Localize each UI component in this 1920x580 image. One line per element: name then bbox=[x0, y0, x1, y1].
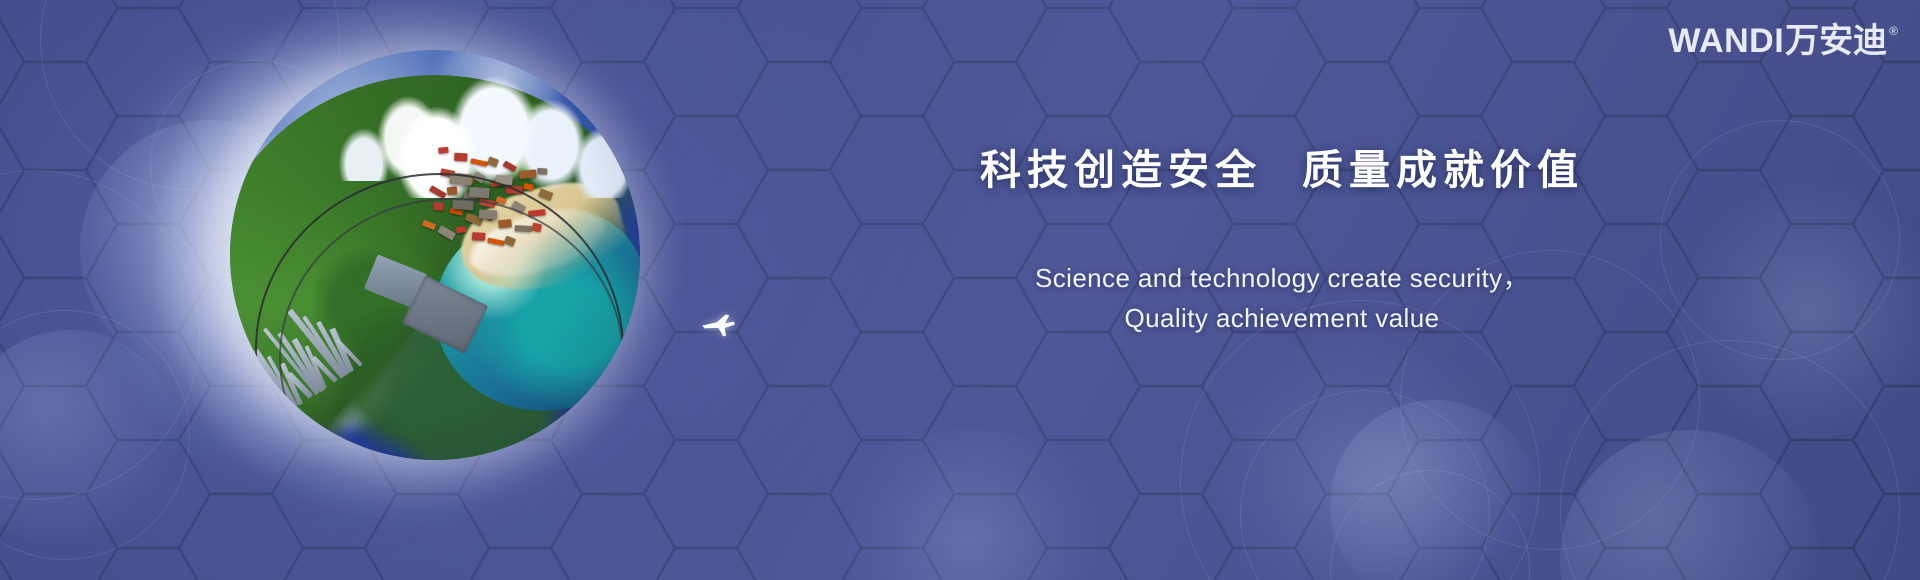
hexagon-cell bbox=[86, 440, 210, 548]
hexagon-cell-inner bbox=[1575, 549, 1696, 580]
hexagon-cell-inner bbox=[459, 549, 580, 580]
hexagon-cell-inner bbox=[0, 225, 23, 330]
hexagon-cell bbox=[1481, 386, 1605, 494]
hexagon-cell-inner bbox=[1110, 387, 1231, 492]
hexagon-cell-inner bbox=[738, 171, 859, 276]
hexagon-cell-inner bbox=[0, 0, 23, 7]
hexagon-cell bbox=[1574, 332, 1698, 440]
hexagon-cell bbox=[830, 8, 954, 116]
hexagon-cell-inner bbox=[1017, 441, 1138, 546]
hexagon-cell-inner bbox=[0, 117, 23, 222]
hexagon-cell bbox=[1388, 332, 1512, 440]
hexagon-cell-inner bbox=[738, 0, 859, 61]
hexagon-cell bbox=[644, 0, 768, 8]
hexagon-cell-inner bbox=[1017, 333, 1138, 438]
hexagon-cell bbox=[737, 170, 861, 278]
decor-glow bbox=[1210, 330, 1510, 580]
decor-circle bbox=[1560, 340, 1900, 580]
hexagon-cell-inner bbox=[645, 441, 766, 546]
hexagon-cell bbox=[1109, 494, 1233, 580]
hexagon-cell-inner bbox=[1110, 495, 1231, 580]
hexagon-cell-inner bbox=[1203, 9, 1324, 114]
hexagon-cell-inner bbox=[1017, 0, 1138, 7]
hexagon-cell bbox=[1853, 386, 1920, 494]
hexagon-cell bbox=[1016, 8, 1140, 116]
hexagon-cell-inner bbox=[831, 117, 952, 222]
hexagon-cell-inner bbox=[87, 441, 208, 546]
hexagon-cell-inner bbox=[1668, 495, 1789, 580]
hexagon-cell-inner bbox=[645, 9, 766, 114]
hexagon-cell bbox=[923, 0, 1047, 62]
hexagon-cell bbox=[1388, 440, 1512, 548]
hexagon-cell bbox=[1574, 0, 1698, 8]
hexagon-cell bbox=[1481, 494, 1605, 580]
hexagon-cell bbox=[1109, 386, 1233, 494]
hexagon-cell-inner bbox=[1203, 0, 1324, 7]
logo-latin-text: WANDI bbox=[1668, 24, 1784, 58]
hexagon-cell bbox=[0, 8, 24, 116]
hexagon-cell-inner bbox=[1761, 441, 1882, 546]
hexagon-cell bbox=[0, 62, 117, 170]
globe-edge-shadow bbox=[230, 50, 640, 460]
hexagon-cell-inner bbox=[1296, 495, 1417, 580]
hexagon-cell bbox=[1853, 170, 1920, 278]
subtitle-line-2: Quality achievement value bbox=[912, 298, 1652, 338]
hexagon-cell bbox=[1853, 62, 1920, 170]
hexagon-cell-inner bbox=[1761, 333, 1882, 438]
hexagon-cell-inner bbox=[831, 333, 952, 438]
hexagon-cell-inner bbox=[0, 9, 23, 114]
hexagon-cell-inner bbox=[0, 495, 116, 580]
hexagon-cell-inner bbox=[1389, 9, 1510, 114]
hexagon-cell bbox=[1388, 8, 1512, 116]
hexagon-cell-inner bbox=[1017, 9, 1138, 114]
hexagon-cell-inner bbox=[831, 549, 952, 580]
hexagon-cell bbox=[0, 116, 24, 224]
hexagon-cell bbox=[1016, 0, 1140, 8]
decor-glow bbox=[820, 430, 1120, 580]
hexagon-cell-inner bbox=[831, 9, 952, 114]
decor-bokeh bbox=[1330, 400, 1540, 580]
hexagon-cell bbox=[1202, 8, 1326, 116]
hexagon-cell bbox=[923, 494, 1047, 580]
hexagon-cell bbox=[644, 8, 768, 116]
hexagon-cell bbox=[923, 386, 1047, 494]
hexagon-cell-inner bbox=[0, 549, 23, 580]
hexagon-cell bbox=[1481, 0, 1605, 62]
hexagon-cell bbox=[1667, 494, 1791, 580]
hexagon-cell-inner bbox=[1296, 387, 1417, 492]
registered-trademark-icon: ® bbox=[1889, 25, 1898, 37]
hexagon-cell-inner bbox=[1668, 171, 1789, 276]
page-subtitle: Science and technology create security， … bbox=[912, 258, 1652, 338]
hexagon-cell-inner bbox=[1482, 0, 1603, 61]
hexagon-cell-inner bbox=[831, 0, 952, 7]
hexagon-cell-inner bbox=[180, 495, 301, 580]
hexagon-cell-inner bbox=[1017, 549, 1138, 580]
hexagon-cell-inner bbox=[1575, 0, 1696, 7]
hexagon-cell-inner bbox=[1668, 63, 1789, 168]
hexagon-cell bbox=[1016, 332, 1140, 440]
hexagon-cell bbox=[1016, 548, 1140, 580]
hexagon-cell bbox=[737, 62, 861, 170]
globe-illustration bbox=[200, 25, 660, 485]
hexagon-cell bbox=[0, 332, 24, 440]
hexagon-cell-inner bbox=[87, 0, 208, 7]
hexagon-cell bbox=[1760, 0, 1884, 8]
hexagon-cell-inner bbox=[0, 0, 116, 61]
hexagon-cell-inner bbox=[738, 495, 859, 580]
hexagon-cell-inner bbox=[1389, 0, 1510, 7]
hexagon-cell bbox=[0, 0, 24, 8]
hexagon-cell-inner bbox=[645, 549, 766, 580]
hexagon-cell-inner bbox=[924, 387, 1045, 492]
hexagon-cell bbox=[737, 494, 861, 580]
tiny-planet bbox=[230, 50, 640, 460]
hexagon-cell bbox=[737, 278, 861, 386]
hexagon-cell bbox=[551, 494, 675, 580]
hexagon-cell bbox=[272, 548, 396, 580]
hexagon-cell-inner bbox=[924, 495, 1045, 580]
hexagon-cell-inner bbox=[552, 495, 673, 580]
hexagon-cell bbox=[1202, 0, 1326, 8]
hero-banner: 科技创造安全质量成就价值 Science and technology crea… bbox=[0, 0, 1920, 580]
hexagon-cell-inner bbox=[1575, 441, 1696, 546]
hexagon-cell bbox=[1760, 548, 1884, 580]
hexagon-cell bbox=[0, 278, 117, 386]
hexagon-cell-inner bbox=[1854, 387, 1920, 492]
hexagon-cell bbox=[458, 548, 582, 580]
hexagon-cell bbox=[1202, 332, 1326, 440]
hexagon-cell-inner bbox=[1482, 495, 1603, 580]
hexagon-cell bbox=[0, 386, 117, 494]
hexagon-cell-inner bbox=[1203, 549, 1324, 580]
page-title: 科技创造安全质量成就价值 bbox=[962, 136, 1602, 196]
hexagon-cell bbox=[830, 0, 954, 8]
hexagon-cell bbox=[1760, 440, 1884, 548]
hexagon-cell bbox=[830, 332, 954, 440]
hexagon-cell-inner bbox=[1389, 333, 1510, 438]
hexagon-cell bbox=[830, 548, 954, 580]
subtitle-line-1: Science and technology create security， bbox=[912, 258, 1652, 298]
hexagon-cell bbox=[1295, 386, 1419, 494]
hexagon-cell bbox=[0, 224, 24, 332]
hexagon-cell-inner bbox=[1761, 225, 1882, 330]
hexagon-cell-inner bbox=[924, 0, 1045, 61]
hexagon-cell bbox=[0, 440, 24, 548]
hexagon-cell bbox=[1574, 440, 1698, 548]
hexagon-cell bbox=[1667, 170, 1791, 278]
hexagon-cell bbox=[1388, 0, 1512, 8]
hexagon-cell-inner bbox=[1854, 63, 1920, 168]
hexagon-cell bbox=[1760, 116, 1884, 224]
hexagon-cell-inner bbox=[738, 387, 859, 492]
hexagon-cell bbox=[0, 0, 117, 62]
hexagon-cell bbox=[179, 494, 303, 580]
hexagon-cell-inner bbox=[1668, 387, 1789, 492]
hexagon-cell bbox=[1202, 440, 1326, 548]
hexagon-cell-inner bbox=[1110, 0, 1231, 61]
hexagon-cell bbox=[1667, 62, 1791, 170]
hexagon-cell-inner bbox=[1854, 279, 1920, 384]
hexagon-cell bbox=[830, 116, 954, 224]
headline-part-1: 科技创造安全 bbox=[980, 147, 1262, 193]
hexagon-cell bbox=[1574, 548, 1698, 580]
decor-circle bbox=[1240, 390, 1490, 580]
hexagon-cell bbox=[1295, 494, 1419, 580]
hexagon-cell-inner bbox=[1389, 441, 1510, 546]
hexagon-cell bbox=[1202, 548, 1326, 580]
airplane-icon bbox=[700, 312, 736, 338]
hexagon-cell bbox=[1853, 494, 1920, 580]
hexagon-cell bbox=[737, 386, 861, 494]
hexagon-cell-inner bbox=[0, 387, 116, 492]
hexagon-cell-inner bbox=[1668, 279, 1789, 384]
hexagon-cell-inner bbox=[0, 171, 116, 276]
hexagon-cell bbox=[830, 440, 954, 548]
hexagon-cell bbox=[737, 0, 861, 62]
hexagon-cell-inner bbox=[645, 0, 766, 7]
hexagon-cell-inner bbox=[1761, 549, 1882, 580]
hexagon-cell-inner bbox=[1761, 117, 1882, 222]
hexagon-cell bbox=[1760, 332, 1884, 440]
hexagon-cell bbox=[1667, 278, 1791, 386]
hexagon-cell bbox=[1109, 0, 1233, 62]
hexagon-cell bbox=[644, 440, 768, 548]
hexagon-cell-inner bbox=[0, 279, 116, 384]
hexagon-cell bbox=[0, 548, 24, 580]
brand-logo[interactable]: WANDI 万安迪 ® bbox=[1668, 24, 1898, 58]
hexagon-cell-inner bbox=[1482, 387, 1603, 492]
logo-chinese-text: 万安迪 bbox=[1785, 24, 1887, 58]
hexagon-cell-inner bbox=[1761, 0, 1882, 7]
hexagon-cell-inner bbox=[273, 549, 394, 580]
hexagon-cell bbox=[1760, 224, 1884, 332]
hexagon-cell bbox=[0, 170, 117, 278]
hexagon-cell bbox=[0, 494, 117, 580]
hexagon-cell-inner bbox=[1854, 171, 1920, 276]
hexagon-cell bbox=[1295, 0, 1419, 62]
hexagon-cell bbox=[1016, 440, 1140, 548]
hexagon-cell-inner bbox=[1854, 495, 1920, 580]
hexagon-cell bbox=[1853, 278, 1920, 386]
hexagon-cell-inner bbox=[1203, 441, 1324, 546]
decor-bokeh bbox=[1560, 430, 1820, 580]
hexagon-cell-inner bbox=[738, 63, 859, 168]
decor-circle bbox=[1660, 120, 1900, 360]
hexagon-cell-inner bbox=[1296, 0, 1417, 61]
hexagon-cell bbox=[1388, 548, 1512, 580]
hexagon-cell bbox=[86, 548, 210, 580]
decor-circle bbox=[1180, 300, 1540, 580]
hexagon-cell-inner bbox=[0, 333, 23, 438]
hexagon-cell-inner bbox=[1575, 333, 1696, 438]
hexagon-cell-inner bbox=[831, 441, 952, 546]
hexagon-cell-inner bbox=[738, 279, 859, 384]
decor-circle bbox=[1330, 470, 1530, 580]
hexagon-cell bbox=[644, 548, 768, 580]
hexagon-cell-inner bbox=[1203, 333, 1324, 438]
hexagon-cell-inner bbox=[1389, 549, 1510, 580]
headline-part-2: 质量成就价值 bbox=[1302, 147, 1584, 193]
hexagon-cell bbox=[86, 0, 210, 8]
hexagon-cell-inner bbox=[0, 441, 23, 546]
decor-glow bbox=[1680, 180, 1920, 440]
hexagon-cell bbox=[1667, 386, 1791, 494]
hexagon-cell-inner bbox=[87, 549, 208, 580]
hexagon-cell-inner bbox=[0, 63, 116, 168]
